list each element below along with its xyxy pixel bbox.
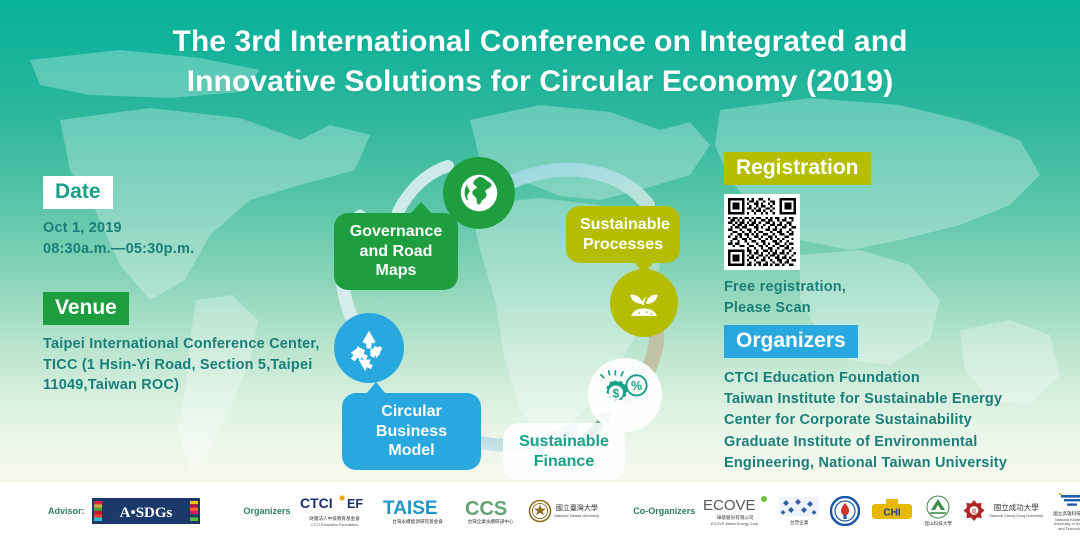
ctci-ef-logo-cn: 財團法人中技教育基金會 — [309, 516, 360, 522]
page-title: The 3rd International Conference on Inte… — [0, 22, 1080, 101]
registration-caption: Free registration, Please Scan — [724, 277, 871, 318]
svg-text:CTCI: CTCI — [300, 495, 333, 511]
flame-circle-logo — [830, 496, 860, 526]
advisor-group: Advisor: — [48, 482, 200, 540]
seedling-icon — [610, 269, 678, 337]
ecove-logo: ECOVE 綠意股份有限公司 ECOVE Waste Energy Corp. — [702, 495, 768, 526]
node-label-circular-business-model[interactable]: Circular Business Model — [342, 393, 481, 470]
taise-logo: TAISE 台灣永續能源研究基金會 — [382, 497, 454, 525]
ccs-logo: CCS 台灣企業永續研訓中心 — [464, 497, 518, 525]
svg-text:A•SDGs: A•SDGs — [119, 505, 172, 521]
organizers-badge: Organizers — [724, 325, 858, 358]
kun-shan-university-logo: 崑山科技大學 — [924, 495, 952, 527]
kun-shan-university-logo-cn: 崑山科技大學 — [924, 521, 952, 527]
chi-logo: CHI — [870, 498, 914, 524]
title-line-2: Innovative Solutions for Circular Econom… — [187, 65, 894, 98]
nkust-logo: 國立高雄科技大學 National Kaohsiung University o… — [1053, 491, 1080, 531]
svg-text:CCS: CCS — [465, 498, 507, 519]
node-label-governance[interactable]: Governance and Road Maps — [334, 213, 458, 290]
ncku-logo: 成 國立成功大學 National Cheng Kung University — [962, 499, 1043, 523]
qr-code-icon[interactable] — [724, 194, 800, 270]
svg-text:ECOVE: ECOVE — [703, 497, 756, 514]
ccs-logo-cn: 台灣企業永續研訓中心 — [468, 519, 514, 525]
taise-logo-cn: 台灣永續能源研究基金會 — [392, 519, 443, 525]
organizers-text: CTCI Education Foundation Taiwan Institu… — [724, 368, 1007, 474]
venue-text: Taipei International Conference Center, … — [43, 334, 320, 396]
taiwan-cement-logo: 台塑企業 — [778, 496, 820, 526]
venue-badge: Venue — [43, 292, 129, 325]
date-block: Date Oct 1, 2019 08:30a.m.—05:30p.m. — [43, 176, 194, 259]
organizers-group: Organizers CTCI EF 財團法人中技教育基金會 CTCI Educ… — [244, 482, 610, 540]
taiwan-cement-logo-cn: 台塑企業 — [790, 520, 808, 526]
venue-block: Venue Taipei International Conference Ce… — [43, 292, 320, 396]
nkust-logo-cn: 國立高雄科技大學 — [1053, 511, 1080, 517]
organizers-block: Organizers CTCI Education Foundation Tai… — [724, 325, 1007, 474]
organizers-footer-label: Organizers — [244, 506, 291, 516]
asdgs-logo: A•SDGs — [92, 498, 200, 524]
svg-text:CHI: CHI — [884, 508, 901, 519]
node-label-sustainable-finance[interactable]: Sustainable Finance — [503, 423, 625, 480]
money-gear-icon: $ % — [588, 358, 662, 432]
node-label-sustainable-processes[interactable]: Sustainable Processes — [566, 206, 680, 263]
ecove-logo-sub: ECOVE Waste Energy Corp. — [711, 522, 759, 526]
poster-header: The 3rd International Conference on Inte… — [0, 22, 1080, 101]
ntu-logo-cn: 國立臺灣大學 — [556, 504, 598, 513]
ecove-logo-cn: 綠意股份有限公司 — [717, 515, 754, 521]
ntu-logo-sub: National Taiwan University — [555, 514, 600, 518]
svg-text:%: % — [631, 379, 642, 393]
svg-text:$: $ — [613, 386, 620, 400]
svg-text:EF: EF — [347, 497, 363, 511]
registration-block: Registration — [724, 152, 871, 318]
ncku-logo-cn: 國立成功大學 — [994, 503, 1039, 513]
conference-poster: The 3rd International Conference on Inte… — [0, 0, 1080, 540]
nkust-logo-sub: National Kaohsiung University of Science… — [1053, 518, 1080, 531]
footer-logo-bar: Advisor: — [0, 482, 1080, 540]
ctci-ef-logo: CTCI EF 財團法人中技教育基金會 CTCI Education Found… — [298, 494, 372, 527]
co-organizers-group: Co-Organizers ECOVE 綠意股份有限公司 ECOVE Waste… — [633, 482, 1080, 540]
ncku-logo-sub: National Cheng Kung University — [989, 514, 1043, 518]
co-organizers-label: Co-Organizers — [633, 506, 695, 516]
date-badge: Date — [43, 176, 113, 209]
svg-text:TAISE: TAISE — [383, 498, 438, 519]
title-line-1: The 3rd International Conference on Inte… — [172, 25, 907, 58]
recycle-icon — [334, 313, 404, 383]
advisor-label: Advisor: — [48, 506, 85, 516]
ctci-ef-logo-sub: CTCI Education Foundation — [311, 523, 358, 527]
registration-badge: Registration — [724, 152, 871, 185]
date-text: Oct 1, 2019 08:30a.m.—05:30p.m. — [43, 218, 194, 259]
ntu-logo: 國立臺灣大學 National Taiwan University — [528, 499, 600, 523]
svg-text:成: 成 — [971, 508, 977, 516]
